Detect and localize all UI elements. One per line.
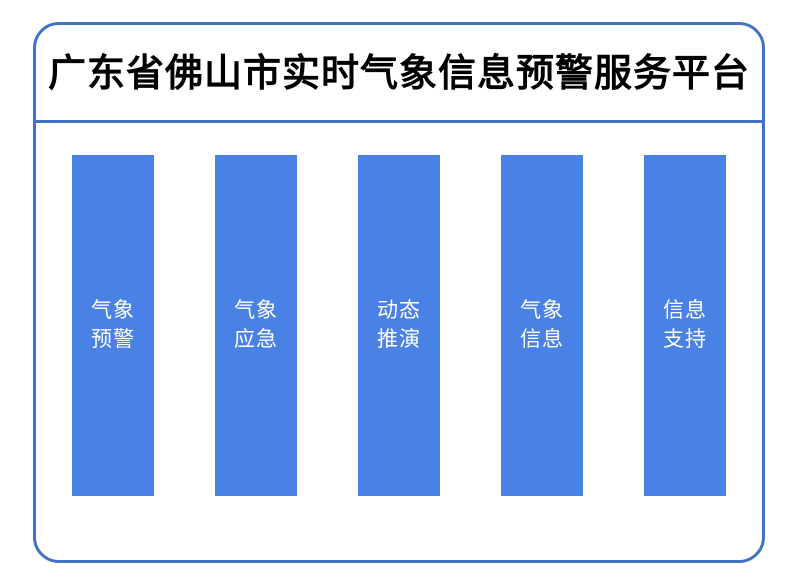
- page-title: 广东省佛山市实时气象信息预警服务平台: [48, 55, 750, 93]
- pillar-label: 气象 信息: [520, 297, 564, 355]
- pillar-meteorological-emergency[interactable]: 气象 应急: [215, 155, 297, 496]
- platform-frame: 广东省佛山市实时气象信息预警服务平台 气象 预警 气象 应急 动态 推演 气象 …: [33, 22, 765, 563]
- pillar-dynamic-deduction[interactable]: 动态 推演: [358, 155, 440, 496]
- pillar-label: 气象 应急: [234, 297, 278, 355]
- pillar-label: 气象 预警: [91, 297, 135, 355]
- pillar-row: 气象 预警 气象 应急 动态 推演 气象 信息 信息 支持: [36, 155, 762, 496]
- pillar-meteorological-information[interactable]: 气象 信息: [501, 155, 583, 496]
- title-divider: [36, 120, 762, 123]
- platform-title-zone: 广东省佛山市实时气象信息预警服务平台: [36, 25, 762, 123]
- pillar-label: 动态 推演: [377, 297, 421, 355]
- diagram-canvas: 广东省佛山市实时气象信息预警服务平台 气象 预警 气象 应急 动态 推演 气象 …: [0, 0, 796, 579]
- pillar-meteorological-warning[interactable]: 气象 预警: [72, 155, 154, 496]
- pillar-information-support[interactable]: 信息 支持: [644, 155, 726, 496]
- pillar-label: 信息 支持: [663, 297, 707, 355]
